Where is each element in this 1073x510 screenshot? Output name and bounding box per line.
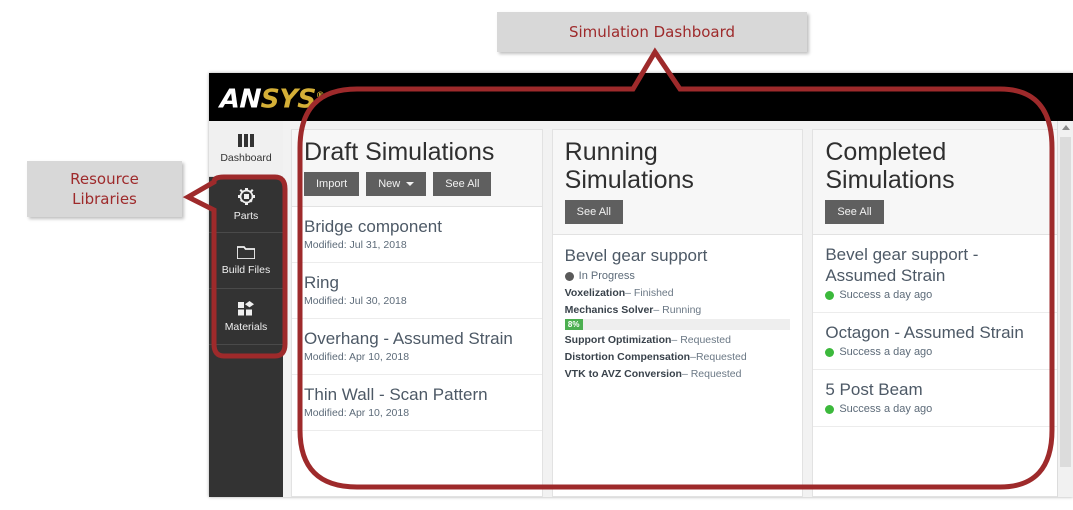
draft-panel-title: Draft Simulations (304, 138, 530, 166)
list-item[interactable]: 5 Post Beam Success a day ago (813, 370, 1063, 427)
see-all-label: See All (445, 178, 479, 190)
completed-status: Success a day ago (825, 288, 1051, 302)
draft-item-modified: Modified: Jul 30, 2018 (304, 295, 530, 308)
list-item[interactable]: Overhang - Assumed Strain Modified: Apr … (292, 319, 542, 375)
sidebar-item-label: Dashboard (220, 152, 271, 164)
draft-item-modified: Modified: Apr 10, 2018 (304, 351, 530, 364)
completed-status-label: Success a day ago (839, 402, 932, 416)
list-item[interactable]: Bridge component Modified: Jul 31, 2018 (292, 207, 542, 263)
completed-panel-header: Completed Simulations See All (812, 129, 1064, 234)
list-item[interactable]: Thin Wall - Scan Pattern Modified: Apr 1… (292, 375, 542, 431)
stage-separator: – (682, 368, 691, 380)
stage-name: Mechanics Solver (565, 304, 654, 316)
running-panel-header: Running Simulations See All (552, 129, 804, 234)
list-item[interactable]: Bevel gear support - Assumed Strain Succ… (813, 235, 1063, 313)
stage-separator: – (625, 287, 634, 299)
draft-panel-header: Draft Simulations Import New See All (291, 129, 543, 206)
scroll-up-arrow-icon[interactable] (1062, 125, 1070, 130)
stage-row: Voxelization– Finished (565, 286, 791, 300)
draft-list: Bridge component Modified: Jul 31, 2018 … (291, 206, 543, 497)
sidebar-item-build-files[interactable]: Build Files (209, 233, 283, 289)
draft-button-row: Import New See All (304, 172, 530, 196)
column-running-simulations: Running Simulations See All Bevel gear s… (552, 129, 804, 497)
new-button-label: New (378, 178, 400, 190)
status-dot-icon (825, 291, 834, 300)
vertical-scrollbar[interactable] (1057, 121, 1073, 497)
see-all-button-running[interactable]: See All (565, 200, 623, 224)
sidebar-item-dashboard[interactable]: Dashboard (209, 121, 283, 177)
app-header-bar: ANSYS® (209, 73, 1073, 121)
dashboard-bars-icon (238, 134, 254, 147)
application-window: ANSYS® Dashboard Parts (209, 73, 1073, 497)
new-button[interactable]: New (366, 172, 426, 196)
stage-row: VTK to AVZ Conversion– Requested (565, 367, 791, 381)
stage-separator: – (653, 304, 662, 316)
callout-label: Simulation Dashboard (569, 22, 735, 42)
see-all-label: See All (577, 206, 611, 218)
stage-row: Distortion Compensation–Requested (565, 350, 791, 364)
completed-status-label: Success a day ago (839, 345, 932, 359)
sidebar-item-materials[interactable]: Materials (209, 289, 283, 345)
ansys-logo: ANSYS® (219, 82, 324, 114)
column-completed-simulations: Completed Simulations See All Bevel gear… (812, 129, 1064, 497)
stage-state: Requested (696, 351, 747, 363)
stage-name: Support Optimization (565, 334, 672, 346)
see-all-button-draft[interactable]: See All (433, 172, 491, 196)
completed-status: Success a day ago (825, 402, 1051, 416)
running-item-title: Bevel gear support (565, 245, 791, 266)
sidebar-item-label: Parts (234, 210, 259, 222)
see-all-label: See All (837, 206, 871, 218)
draft-item-modified: Modified: Jul 31, 2018 (304, 239, 530, 252)
scrollbar-thumb[interactable] (1060, 137, 1071, 467)
sidebar-item-parts[interactable]: Parts (209, 177, 283, 233)
completed-item-title: Octagon - Assumed Strain (825, 322, 1051, 343)
chevron-down-icon (406, 182, 414, 186)
completed-list: Bevel gear support - Assumed Strain Succ… (812, 234, 1064, 497)
draft-item-title: Ring (304, 272, 530, 293)
import-button-label: Import (316, 178, 347, 190)
running-list: Bevel gear support In Progress Voxelizat… (552, 234, 804, 497)
running-panel-title: Running Simulations (565, 138, 791, 194)
running-simulation-card[interactable]: Bevel gear support In Progress Voxelizat… (553, 235, 803, 393)
completed-status-label: Success a day ago (839, 288, 932, 302)
stage-name: VTK to AVZ Conversion (565, 368, 682, 380)
stage-state: Running (662, 304, 701, 316)
see-all-button-completed[interactable]: See All (825, 200, 883, 224)
stage-name: Voxelization (565, 287, 625, 299)
blocks-icon (238, 301, 255, 316)
stage-row: Mechanics Solver– Running (565, 303, 791, 317)
draft-item-title: Thin Wall - Scan Pattern (304, 384, 530, 405)
stage-name: Distortion Compensation (565, 351, 690, 363)
callout-label-line2: Libraries (72, 190, 137, 208)
callout-simulation-dashboard: Simulation Dashboard (497, 12, 807, 52)
sidebar-item-label: Materials (225, 321, 268, 333)
callout-label-line1: Resource (70, 170, 139, 188)
stage-separator: – (671, 334, 680, 346)
completed-button-row: See All (825, 200, 1051, 224)
folder-icon (237, 245, 255, 259)
status-dot-icon (825, 405, 834, 414)
gear-chip-icon (238, 188, 255, 205)
progress-bar: 8% (565, 319, 791, 330)
import-button[interactable]: Import (304, 172, 359, 196)
running-button-row: See All (565, 200, 791, 224)
logo-trademark: ® (316, 91, 325, 101)
sidebar-item-label: Build Files (222, 264, 270, 276)
logo-text-sys: SYS (260, 85, 316, 115)
stage-state: Requested (680, 334, 731, 346)
completed-item-title: Bevel gear support - Assumed Strain (825, 244, 1051, 286)
draft-item-title: Bridge component (304, 216, 530, 237)
draft-item-title: Overhang - Assumed Strain (304, 328, 530, 349)
column-draft-simulations: Draft Simulations Import New See All Bri… (291, 129, 543, 497)
dashboard-content: Draft Simulations Import New See All Bri… (283, 121, 1073, 497)
stage-row: Support Optimization– Requested (565, 333, 791, 347)
list-item[interactable]: Octagon - Assumed Strain Success a day a… (813, 313, 1063, 370)
status-dot-icon (825, 348, 834, 357)
stage-state: Finished (634, 287, 674, 299)
logo-text-an: AN (219, 85, 261, 115)
draft-item-modified: Modified: Apr 10, 2018 (304, 407, 530, 420)
progress-bar-fill: 8% (565, 319, 583, 330)
stage-state: Requested (691, 368, 742, 380)
completed-item-title: 5 Post Beam (825, 379, 1051, 400)
completed-status: Success a day ago (825, 345, 1051, 359)
status-dot-icon (565, 272, 574, 281)
list-item[interactable]: Ring Modified: Jul 30, 2018 (292, 263, 542, 319)
completed-panel-title: Completed Simulations (825, 138, 1051, 194)
running-status: In Progress (565, 269, 791, 283)
sidebar-nav-rail: Dashboard Parts Build Files (209, 121, 283, 497)
callout-label: Resource Libraries (70, 169, 139, 209)
callout-resource-libraries: Resource Libraries (27, 161, 182, 217)
running-status-label: In Progress (579, 269, 635, 283)
